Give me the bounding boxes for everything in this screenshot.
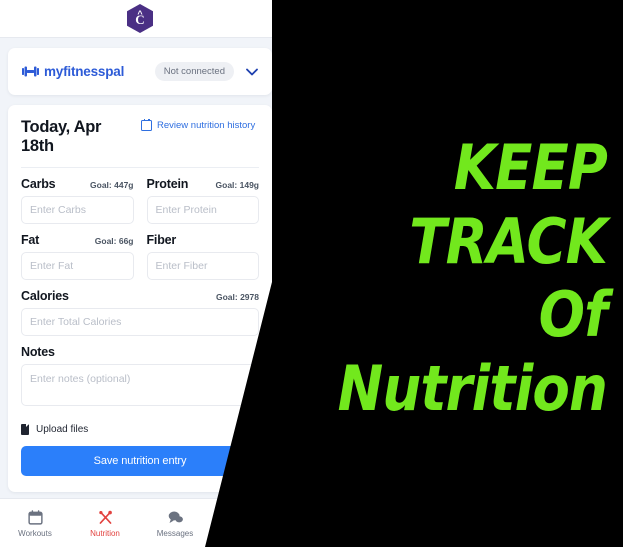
logo-letter: C <box>135 13 144 27</box>
field-goal-protein: Goal: 149g <box>216 180 259 190</box>
review-nutrition-history-link[interactable]: Review nutrition history <box>141 120 255 131</box>
field-goal-carbs: Goal: 447g <box>90 180 133 190</box>
calories-input[interactable] <box>21 308 259 336</box>
field-goal-fat: Goal: 66g <box>95 236 134 246</box>
myfitnesspal-integration-card[interactable]: myfitnesspal Not connected <box>8 48 272 95</box>
macro-row-1: Carbs Goal: 447g Protein Goal: 149g <box>21 177 259 233</box>
field-label-fiber: Fiber <box>147 233 177 247</box>
field-notes: Notes <box>21 345 259 411</box>
nav-item-nutrition[interactable]: Nutrition <box>70 509 140 538</box>
myfitnesspal-dumbbell-icon <box>22 66 39 77</box>
nav-item-workouts[interactable]: Workouts <box>0 509 70 538</box>
nav-item-messages[interactable]: Messages <box>140 509 210 538</box>
fiber-input[interactable] <box>147 252 260 280</box>
calendar-icon <box>27 509 44 526</box>
file-icon <box>21 424 29 435</box>
nav-label-workouts: Workouts <box>18 529 52 538</box>
nutrition-form-card: Today, Apr 18th Review nutrition history… <box>8 105 272 492</box>
chat-bubble-icon <box>167 509 184 526</box>
field-label-notes: Notes <box>21 345 55 359</box>
date-row: Today, Apr 18th Review nutrition history <box>21 118 259 156</box>
field-fiber: Fiber <box>147 233 260 280</box>
field-calories: Calories Goal: 2978 <box>21 289 259 336</box>
review-nutrition-history-label: Review nutrition history <box>157 120 255 131</box>
chevron-down-icon[interactable] <box>246 66 258 78</box>
connection-status-badge: Not connected <box>155 62 234 81</box>
nav-label-messages: Messages <box>157 529 193 538</box>
macro-row-2: Fat Goal: 66g Fiber <box>21 233 259 289</box>
field-goal-calories: Goal: 2978 <box>216 292 259 302</box>
page-title: Today, Apr 18th <box>21 118 131 156</box>
nav-label-nutrition: Nutrition <box>90 529 120 538</box>
upload-files-label: Upload files <box>36 424 88 435</box>
app-header: ^ C <box>0 0 280 38</box>
field-label-fat: Fat <box>21 233 39 247</box>
utensils-icon <box>97 509 114 526</box>
save-nutrition-entry-button[interactable]: Save nutrition entry <box>21 446 259 476</box>
fat-input[interactable] <box>21 252 134 280</box>
protein-input[interactable] <box>147 196 260 224</box>
field-fat: Fat Goal: 66g <box>21 233 134 280</box>
field-label-carbs: Carbs <box>21 177 55 191</box>
hexagon-c-logo-icon[interactable]: ^ C <box>127 4 153 33</box>
notes-input[interactable] <box>21 364 259 406</box>
field-carbs: Carbs Goal: 447g <box>21 177 134 224</box>
carbs-input[interactable] <box>21 196 134 224</box>
field-protein: Protein Goal: 149g <box>147 177 260 224</box>
field-label-calories: Calories <box>21 289 69 303</box>
provider-name: myfitnesspal <box>44 64 124 79</box>
upload-files-button[interactable]: Upload files <box>21 424 259 435</box>
field-label-protein: Protein <box>147 177 189 191</box>
myfitnesspal-logo: myfitnesspal <box>22 64 124 79</box>
divider <box>21 167 259 168</box>
calendar-icon <box>141 120 152 131</box>
